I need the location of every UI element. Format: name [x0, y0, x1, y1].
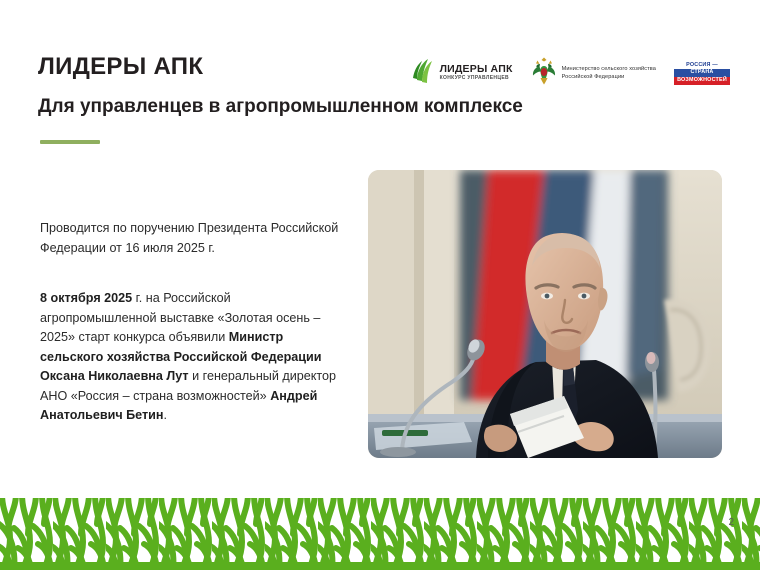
logo-rsv: РОССИЯ — СТРАНА ВОЗМОЖНОСТЕЙ [674, 61, 730, 84]
logo-strip: ЛИДЕРЫ АПК КОНКУРС УПРАВЛЕНЦЕВ [413, 55, 730, 91]
body-paragraph-2-block: 8 октября 2025 г. на Российской агропром… [40, 289, 350, 426]
page-number: 2 [728, 517, 734, 528]
body-paragraph-1: Проводится по поручению Президента Росси… [40, 219, 350, 258]
logo-lideri-apk-tagline: КОНКУРС УПРАВЛЕНЦЕВ [440, 76, 513, 81]
accent-divider [40, 140, 100, 144]
logo-lideri-apk: ЛИДЕРЫ АПК КОНКУРС УПРАВЛЕНЦЕВ [413, 57, 513, 89]
logo-minselhoz-line2: Российской Федерации [562, 73, 656, 81]
logo-rsv-line2: СТРАНА [674, 69, 730, 77]
page-subtitle: Для управленцев в агропромышленном компл… [38, 97, 523, 118]
body-paragraph-1-block: Проводится по поручению Президента Росси… [40, 219, 350, 258]
official-meeting-photo [368, 170, 722, 458]
presentation-slide: ЛИДЕРЫ АПК Для управленцев в агропромышл… [0, 0, 760, 570]
body-paragraph-2: 8 октября 2025 г. на Российской агропром… [40, 289, 350, 426]
double-headed-eagle-icon [531, 56, 557, 91]
logo-minselhoz-line1: Министерство сельского хозяйства [562, 65, 656, 73]
logo-rsv-line1: РОССИЯ — [674, 61, 730, 69]
logo-lideri-apk-name: ЛИДЕРЫ АПК [440, 64, 513, 75]
launch-date: 8 октября 2025 [40, 291, 132, 305]
logo-rsv-line3: ВОЗМОЖНОСТЕЙ [674, 77, 730, 85]
leaf-swoosh-icon [413, 58, 435, 89]
bottom-ornament [0, 498, 760, 570]
body-paragraph-2-text-3: . [164, 408, 168, 422]
logo-minselhoz: Министерство сельского хозяйства Российс… [531, 57, 656, 89]
page-title: ЛИДЕРЫ АПК [38, 55, 203, 79]
